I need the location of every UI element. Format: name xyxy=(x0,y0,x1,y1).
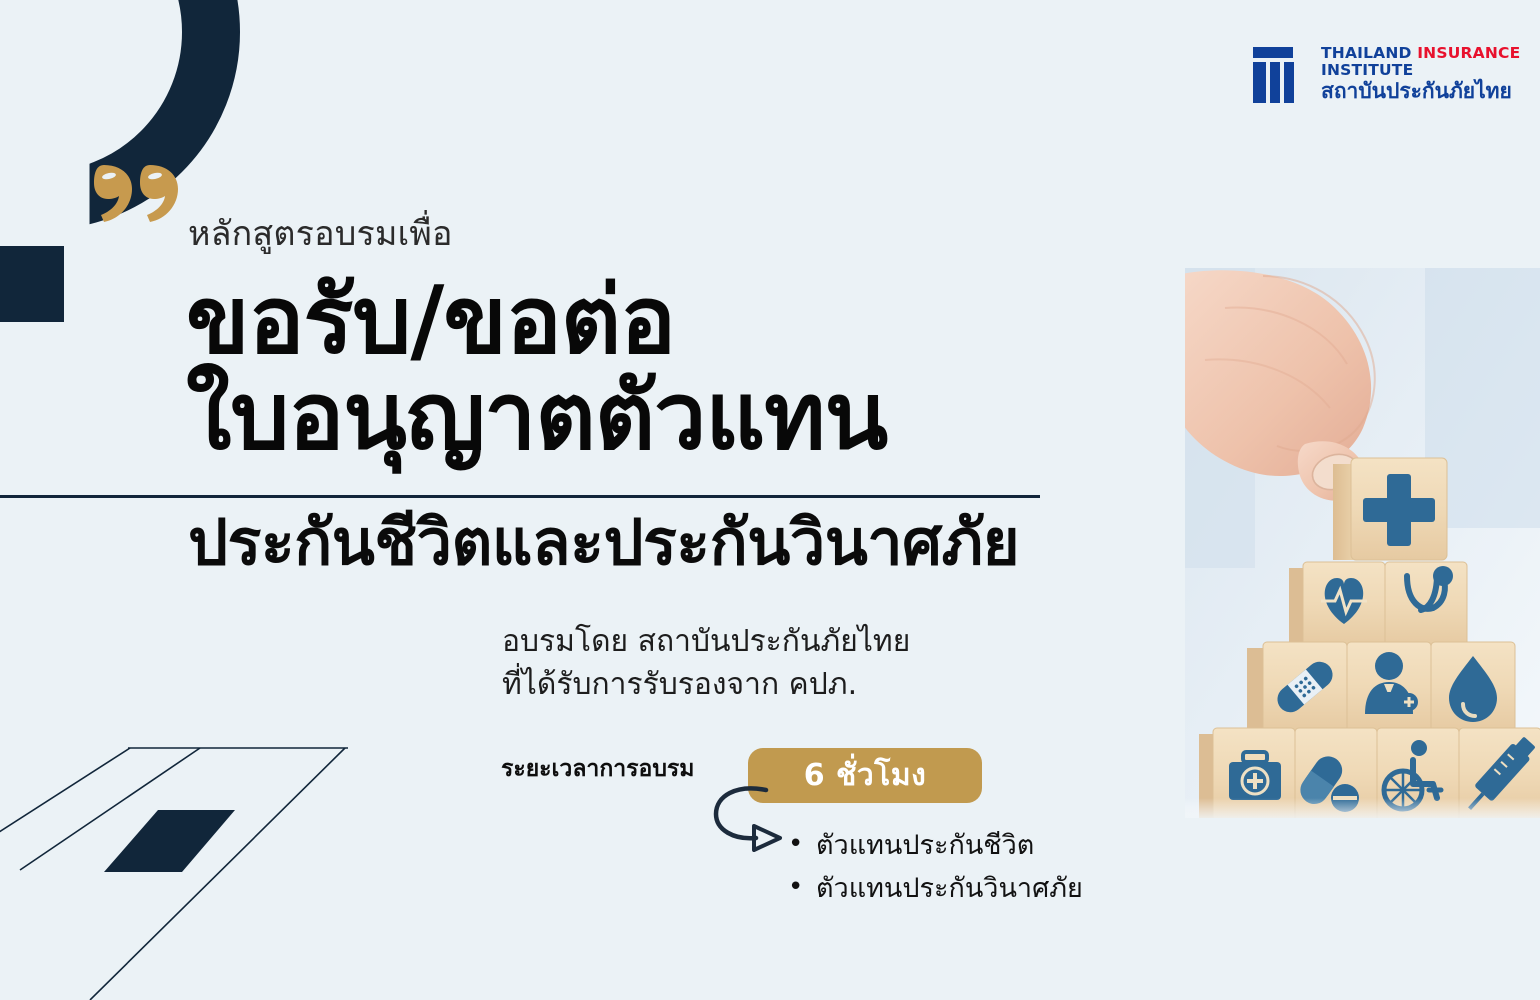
hero-photo xyxy=(1185,268,1540,818)
list-item: ตัวแทนประกันวินาศภัย xyxy=(782,867,1083,910)
stethoscope-head xyxy=(1433,566,1453,586)
logo-institute-text: INSTITUTE xyxy=(1321,62,1511,79)
logo-wordmark: THAILAND INSURANCE INSTITUTE สถาบันประกั… xyxy=(1321,45,1511,103)
page-subtitle: ประกันชีวิตและประกันวินาศภัย xyxy=(188,508,1019,578)
course-description: อบรมโดย สถาบันประกันภัยไทย ที่ได้รับการร… xyxy=(502,620,910,706)
logo-thailand-text: THAILAND xyxy=(1321,44,1417,62)
blocks-row-top xyxy=(1289,562,1467,646)
logo-insurance-text: INSURANCE xyxy=(1417,44,1520,62)
headline-line-1: ขอรับ/ขอต่อ xyxy=(186,266,675,374)
description-line-1: อบรมโดย สถาบันประกันภัยไทย xyxy=(502,620,910,663)
duration-label: ระยะเวลาการอบรม xyxy=(501,751,694,787)
headline-line-2: ใบอนุญาตตัวแทน xyxy=(186,368,887,464)
title-divider xyxy=(0,495,1040,498)
decorative-parallelogram xyxy=(104,810,235,872)
poster-canvas: หลักสูตรอบรมเพื่อ ขอรับ/ขอต่อ ใบอนุญาตตั… xyxy=(0,0,1540,1000)
brand-logo: THAILAND INSURANCE INSTITUTE สถาบันประกั… xyxy=(1253,45,1511,107)
logo-line-1: THAILAND INSURANCE xyxy=(1321,45,1511,62)
quotation-mark-icon xyxy=(92,163,184,223)
doctor-badge-cross xyxy=(1400,693,1418,711)
decorative-arc-tail xyxy=(0,246,64,322)
blocks-row-middle xyxy=(1247,642,1515,732)
decorative-diagonal-lines xyxy=(0,700,420,1000)
medical-cross-block xyxy=(1333,458,1447,560)
audience-list: ตัวแทนประกันชีวิต ตัวแทนประกันวินาศภัย xyxy=(782,824,1083,910)
list-item: ตัวแทนประกันชีวิต xyxy=(782,824,1083,867)
description-line-2: ที่ได้รับการรับรองจาก คปภ. xyxy=(502,663,910,706)
page-title: ขอรับ/ขอต่อ ใบอนุญาตตัวแทน xyxy=(186,272,887,464)
course-kicker: หลักสูตรอบรมเพื่อ xyxy=(188,206,453,260)
logo-thai-text: สถาบันประกันภัยไทย xyxy=(1321,79,1511,103)
tii-monogram-icon xyxy=(1253,47,1311,103)
